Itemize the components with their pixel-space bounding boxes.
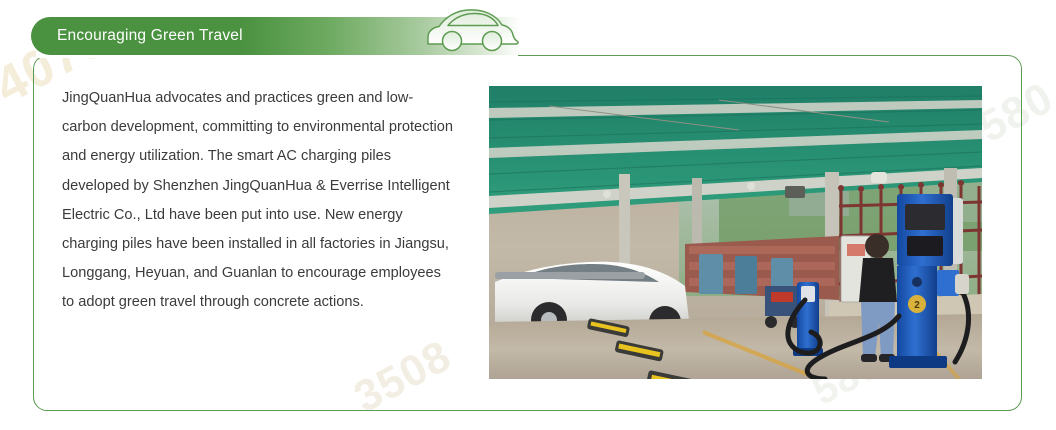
photo-illustration: 2 <box>489 86 982 379</box>
page-title: Encouraging Green Travel <box>57 25 243 47</box>
car-icon <box>424 6 524 56</box>
charging-station-photo: 2 <box>489 86 982 379</box>
pile-number-label: 2 <box>914 300 920 311</box>
body-paragraph-text: JingQuanHua advocates and practices gree… <box>62 84 454 318</box>
body-paragraph: JingQuanHua advocates and practices gree… <box>62 84 454 318</box>
